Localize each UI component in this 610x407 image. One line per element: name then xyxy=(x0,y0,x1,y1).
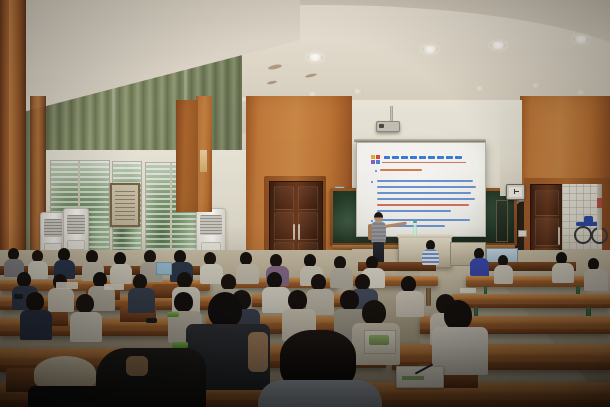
wall-notice-board xyxy=(110,183,140,227)
lecturer-arm-left xyxy=(368,224,372,240)
downlight-icon xyxy=(573,36,589,43)
notice-text-line xyxy=(115,207,136,208)
slide-title xyxy=(384,156,390,159)
slide-subtitle xyxy=(380,169,422,171)
student-torso xyxy=(470,258,489,276)
bottle-cap xyxy=(413,221,417,223)
notice-text-line xyxy=(115,195,136,196)
pillar-highlight xyxy=(9,0,13,268)
student-torso xyxy=(494,265,513,284)
student-torso xyxy=(70,312,102,342)
door-handle[interactable] xyxy=(558,227,560,245)
notebook-green-mark xyxy=(402,376,424,380)
slide-body-line xyxy=(377,210,451,212)
student-torso xyxy=(20,310,52,340)
cap-icon xyxy=(34,356,96,390)
paper-sheet xyxy=(56,282,78,289)
student-head xyxy=(26,292,44,311)
student-head xyxy=(362,300,386,325)
student-torso xyxy=(552,263,574,283)
door-panel xyxy=(274,186,294,210)
desk-surface xyxy=(392,344,610,356)
slide-body-line xyxy=(377,180,473,182)
blue-folder xyxy=(156,262,172,275)
student-torso xyxy=(236,264,259,284)
slide-bullet-icon xyxy=(371,181,373,183)
projector-mount-pole xyxy=(390,106,393,122)
student-head xyxy=(401,276,416,292)
bicycle-seat-icon xyxy=(584,216,593,224)
door-panel xyxy=(535,190,559,216)
student-torso xyxy=(48,288,74,312)
slide-logo-icon xyxy=(371,155,380,164)
phone xyxy=(146,318,157,323)
ac-grille-icon xyxy=(67,215,85,234)
bicycle-wheel-icon xyxy=(574,226,592,244)
downlight-icon xyxy=(530,83,541,88)
door-panel xyxy=(535,218,559,246)
slide-body-line xyxy=(377,192,471,194)
wall-clock xyxy=(506,184,525,200)
slide-bullet-icon xyxy=(375,170,377,172)
student-torso xyxy=(110,264,132,284)
student-torso xyxy=(28,261,48,279)
back-wall-far-right xyxy=(500,100,522,196)
framed-picture xyxy=(496,200,508,242)
student-head xyxy=(311,274,326,290)
student-hand xyxy=(126,356,148,376)
student-torso xyxy=(200,264,223,284)
slide-title xyxy=(392,156,399,159)
slide-title-underline xyxy=(382,162,466,163)
slide-body-line xyxy=(377,198,475,200)
student-arm xyxy=(248,332,268,372)
notice-text-line xyxy=(115,215,136,216)
wall-wood-panel xyxy=(176,100,198,212)
downlight-icon xyxy=(474,86,485,91)
corridor-red-marker xyxy=(597,198,602,208)
water-bottle xyxy=(426,288,431,306)
door-handle[interactable] xyxy=(298,224,300,240)
downlight-icon xyxy=(490,42,506,49)
tote-bag xyxy=(364,330,396,354)
student-torso xyxy=(422,249,439,265)
notice-text-line xyxy=(115,199,136,200)
downlight-icon xyxy=(352,89,363,94)
student-head xyxy=(267,272,282,288)
student-head xyxy=(221,274,236,290)
slide-title xyxy=(455,156,462,159)
door-handle[interactable] xyxy=(293,224,295,240)
door-panel xyxy=(298,186,318,210)
student-head xyxy=(76,294,94,313)
desk-row xyxy=(452,294,610,308)
water-bottle xyxy=(413,223,417,236)
ceiling-projector xyxy=(376,121,400,132)
slide-title xyxy=(437,156,444,159)
student-head xyxy=(355,274,370,290)
bag-graphic xyxy=(369,335,389,345)
student-torso xyxy=(258,380,382,407)
paper-sheet xyxy=(104,284,124,290)
notice-text-line xyxy=(115,191,136,192)
slide-title xyxy=(446,156,453,159)
wall-switch[interactable] xyxy=(518,230,527,237)
slide-body-line xyxy=(377,219,470,221)
door-panel xyxy=(274,212,294,240)
phone xyxy=(14,294,23,299)
downlight-icon xyxy=(422,46,438,53)
green-pencil-case xyxy=(172,342,188,348)
lectern-top xyxy=(397,234,453,238)
student-head xyxy=(174,292,193,312)
downlight-icon xyxy=(307,54,323,61)
slide-body-line-accent xyxy=(377,204,469,206)
student-head xyxy=(444,300,472,330)
student-torso xyxy=(396,291,424,317)
student-torso xyxy=(128,288,155,313)
green-pencil-case xyxy=(167,312,179,317)
ac-grille-icon xyxy=(200,215,221,235)
student-head xyxy=(133,274,147,289)
projector-lens-icon xyxy=(379,124,384,128)
paper-sheet xyxy=(460,288,476,293)
slide-body-line xyxy=(377,186,476,188)
slide-title xyxy=(419,156,426,159)
student-head xyxy=(288,290,307,310)
door-panel xyxy=(298,212,318,240)
student-torso xyxy=(584,269,608,291)
student-head xyxy=(177,272,192,288)
panel-light-slot xyxy=(200,150,207,172)
clock-hand-minute xyxy=(514,191,519,192)
lecturer-torso xyxy=(371,221,386,243)
student-head xyxy=(340,290,359,310)
slide-title xyxy=(401,156,408,159)
clock-face xyxy=(509,187,522,197)
notice-text-line xyxy=(115,219,136,220)
downlight-icon xyxy=(575,90,586,95)
student-shoulder-dark xyxy=(96,348,206,407)
student-head xyxy=(208,292,242,328)
wall-pillar xyxy=(0,0,26,268)
ac-control-panel xyxy=(67,240,84,250)
notice-text-line xyxy=(115,211,136,212)
student-head xyxy=(17,272,31,287)
slide-title xyxy=(428,156,435,159)
slide-title xyxy=(410,156,417,159)
lecture-hall-photo: University lecture hall during a class p… xyxy=(0,0,610,407)
desk-surface xyxy=(452,294,610,300)
ac-grille-icon xyxy=(44,219,62,237)
student-torso xyxy=(330,268,353,288)
notice-text-line xyxy=(115,203,136,204)
